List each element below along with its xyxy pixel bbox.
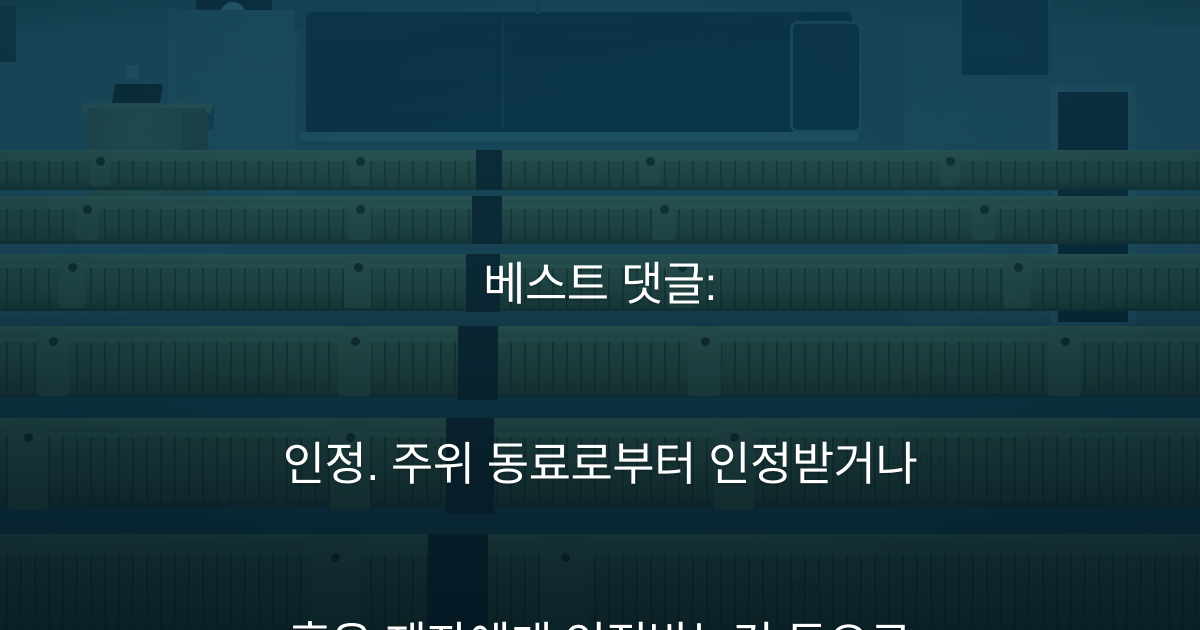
quote-line: 인정. 주위 동료로부터 인정받거나 — [60, 434, 1140, 494]
quote-line: 베스트 댓글: — [60, 254, 1140, 314]
quote-line: 혹은 제자에게 인정받는건 돈으로 — [60, 614, 1140, 630]
share-card: K A — [0, 0, 1200, 630]
quote-text: 베스트 댓글: 인정. 주위 동료로부터 인정받거나 혹은 제자에게 인정받는건… — [0, 134, 1200, 630]
